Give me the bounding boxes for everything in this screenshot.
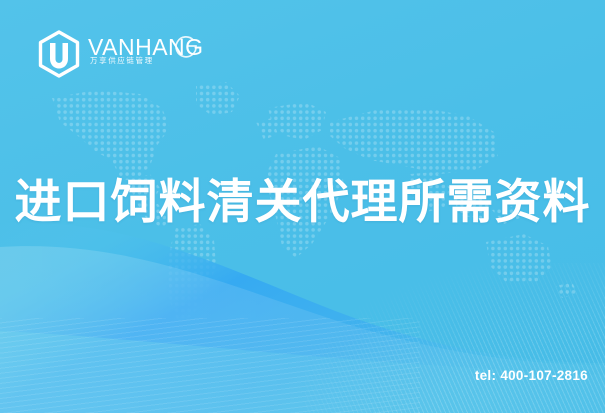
brand-logo: VANHANG 万享供应链管理 <box>36 30 196 78</box>
logo-text-block: VANHANG 万享供应链管理 <box>88 34 196 74</box>
logo-subtitle: 万享供应链管理 <box>90 57 154 65</box>
hexagon-u-logo-icon <box>36 30 82 78</box>
page-title: 进口饲料清关代理所需资料 <box>0 176 605 230</box>
blue-wave-shape <box>0 213 605 413</box>
contact-telephone: tel: 400-107-2816 <box>475 368 588 383</box>
promo-banner: VANHANG 万享供应链管理 进口饲料清关代理所需资料 tel: 400-10… <box>0 0 605 413</box>
